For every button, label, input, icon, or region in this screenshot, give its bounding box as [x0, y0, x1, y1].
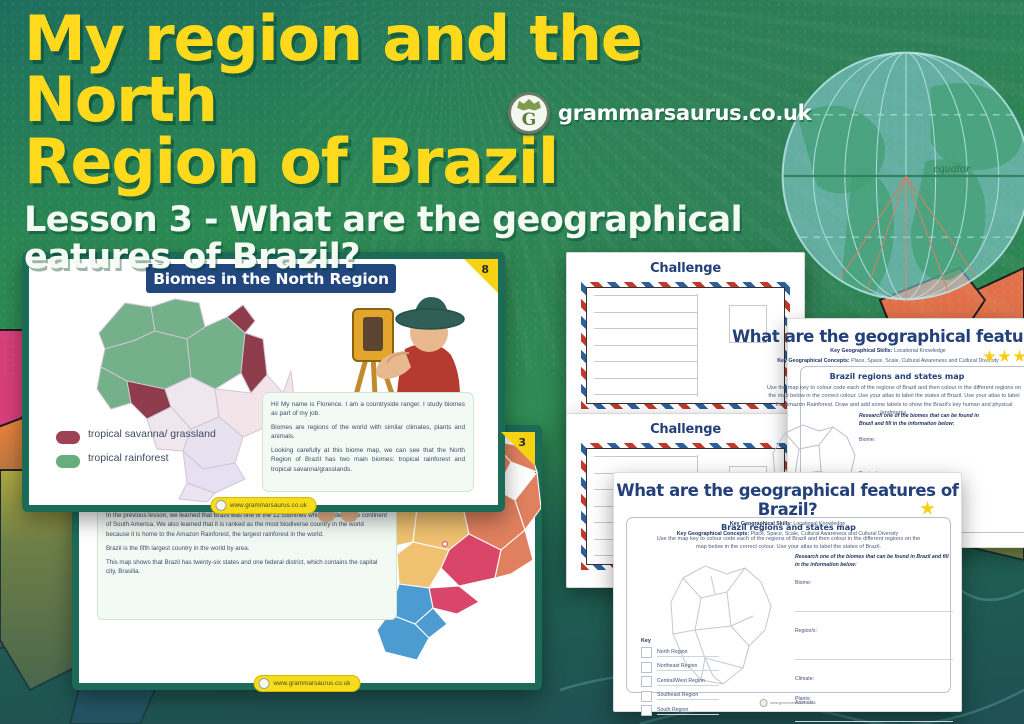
- star-icon: [920, 501, 935, 516]
- key-colour-box[interactable]: [641, 676, 652, 687]
- legend-item-savanna: tropical savanna/ grassland: [56, 429, 216, 444]
- key-row[interactable]: South Region: [641, 705, 719, 716]
- legend-colour-chip: [56, 455, 80, 468]
- research-prompt: Research one of the biomes that can be f…: [859, 413, 989, 428]
- key-label: North Region: [657, 649, 719, 657]
- postcard-divider: [697, 294, 698, 397]
- florence-paragraph-2: Biomes are regions of the world with sim…: [271, 423, 465, 442]
- brand-name: grammarsaurus.co.uk: [558, 101, 811, 125]
- key-colour-box[interactable]: [641, 691, 652, 702]
- concepts-label: Key Geographical Concepts:: [777, 358, 849, 364]
- brand-lockup: G grammarsaurus.co.uk: [508, 92, 811, 134]
- worksheet-panel-title: Brazil regions and states map: [761, 372, 1024, 381]
- star-icon: [1013, 350, 1024, 363]
- key-row[interactable]: Central/West Region: [641, 676, 719, 687]
- page-title-block: My region and the North Region of Brazil…: [24, 8, 794, 294]
- florence-paragraph-1: Hi! My name is Florence. I am a countrys…: [271, 400, 465, 419]
- worksheet-title: What are the geographical features of Br…: [732, 327, 1024, 346]
- key-colour-box[interactable]: [641, 647, 652, 658]
- key-row[interactable]: Northeast Region: [641, 662, 719, 673]
- field-regions[interactable]: Region/s:: [795, 628, 953, 634]
- site-footer-pill: www.grammarsaurus.co.uk: [254, 675, 361, 692]
- field-animals[interactable]: Animals:: [795, 700, 953, 706]
- skills-label: Key Geographical Skills:: [830, 348, 892, 354]
- key-label: Northeast Region: [657, 663, 719, 671]
- page-subtitle: Lesson 3 - What are the geographical eat…: [24, 202, 804, 294]
- map-key-title: Key: [641, 638, 719, 644]
- florence-speech-box: Hi! My name is Florence. I am a countrys…: [262, 392, 474, 492]
- worksheet-skills: Key Geographical Skills: Locational Know…: [732, 348, 1024, 356]
- research-prompt: Research one of the biomes that can be f…: [795, 554, 953, 569]
- worksheet-panel-title: Brazil regions and states map: [627, 523, 950, 532]
- star-icon: [983, 350, 996, 363]
- map-key: Key North Region Northeast Region Centra…: [641, 638, 719, 720]
- worksheet-difficulty-stars: [983, 350, 1024, 363]
- footer-url: www.grammarsaurus.co.uk: [274, 680, 351, 687]
- key-row[interactable]: Southeast Region: [641, 691, 719, 702]
- legend-item-rainforest: tropical rainforest: [56, 453, 216, 468]
- footer-url: www.grammarsaurus.co.uk: [230, 502, 307, 509]
- grammarsaurus-logo-icon: G: [508, 92, 550, 134]
- worksheet-front[interactable]: What are the geographical features of Br…: [613, 472, 962, 712]
- worksheet-concepts: Key Geographical Concepts: Place, Space,…: [732, 358, 1024, 366]
- page-title-line-2: Region of Brazil: [24, 131, 794, 192]
- worksheet-instructions: Use the map key to colour code each of t…: [655, 535, 922, 552]
- key-label: Central/West Region: [657, 678, 719, 686]
- worksheet-difficulty-stars: [920, 501, 935, 516]
- states-paragraph-3: This map shows that Brazil has twenty-si…: [106, 558, 388, 577]
- worksheet-title: What are the geographical features of Br…: [614, 481, 961, 519]
- logo-letter: G: [522, 110, 537, 130]
- postcard-write-lines[interactable]: [594, 295, 697, 396]
- florence-paragraph-3: Looking carefully at this biome map, we …: [271, 446, 465, 474]
- key-row[interactable]: North Region: [641, 647, 719, 658]
- slide-number: 3: [518, 436, 526, 449]
- skills-value: Locational Knowledge: [894, 348, 946, 354]
- grammarsaurus-footer-icon: [215, 500, 226, 511]
- field-climate[interactable]: Climate:: [795, 676, 953, 682]
- site-footer-pill: www.grammarsaurus.co.uk: [210, 497, 317, 514]
- legend-colour-chip: [56, 431, 80, 444]
- biome-legend: tropical savanna/ grassland tropical rai…: [56, 429, 216, 477]
- worksheet-footer: www.grammarsaurus.co.uk: [759, 699, 816, 707]
- worksheet-panel: Brazil regions and states map Use the ma…: [626, 517, 951, 693]
- field-biome[interactable]: Biome:: [859, 437, 1024, 443]
- footer-url: www.grammarsaurus.co.uk: [770, 701, 816, 705]
- key-colour-box[interactable]: [641, 705, 652, 716]
- grammarsaurus-footer-icon: [759, 699, 767, 707]
- screenshot-stage: equator My region and the North Region o…: [0, 0, 1024, 724]
- star-icon: [998, 350, 1011, 363]
- legend-label: tropical rainforest: [88, 453, 169, 465]
- legend-label: tropical savanna/ grassland: [88, 429, 216, 441]
- grammarsaurus-footer-icon: [259, 678, 270, 689]
- field-biome[interactable]: Biome:: [795, 580, 953, 586]
- key-label: Southeast Region: [657, 692, 719, 700]
- key-colour-box[interactable]: [641, 662, 652, 673]
- key-label: South Region: [657, 707, 719, 715]
- concepts-value: Place, Space, Scale, Cultural Awareness …: [851, 358, 999, 364]
